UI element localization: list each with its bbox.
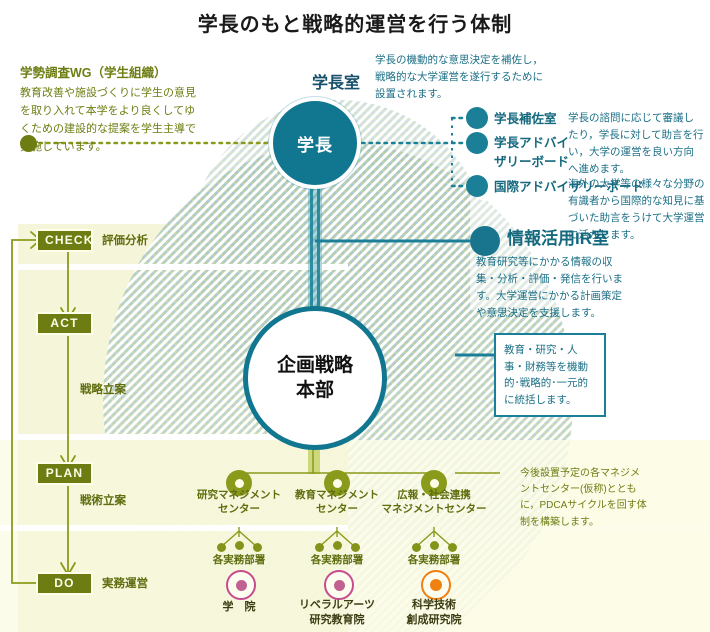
pdca-tag-check[interactable]: CHECK — [36, 229, 93, 252]
institute-label-2-line1: リベラルアーツ — [287, 598, 387, 613]
center-label-1: 研究マネジメント センター — [184, 488, 294, 516]
student-wg-dot — [20, 135, 37, 152]
president-office-description: 学長の機動的な意思決定を補佐し，戦略的な大学運営を遂行するために設置されます。 — [375, 52, 550, 103]
dept-dot-3b — [430, 541, 439, 550]
institute-label-1: 学 院 — [199, 600, 279, 615]
pdca-mid-label-2: 戦術立案 — [80, 492, 126, 508]
institute-label-2-line2: 研究教育院 — [287, 613, 387, 628]
center-label-1-line1: 研究マネジメント — [184, 488, 294, 502]
hq-circle[interactable]: 企画戦略 本部 — [243, 306, 387, 450]
pdca-tag-do[interactable]: DO — [36, 572, 93, 595]
dept-dot-1b — [235, 541, 244, 550]
institute-node-1[interactable] — [226, 570, 256, 600]
advisor-label-1: 学長補佐室 — [494, 110, 574, 129]
pdca-tag-act[interactable]: ACT — [36, 312, 93, 335]
diagram-canvas: 学長のもと戦略的運営を行う体制 学勢調査WG（学生組織） 教育改善や施設づくりに… — [0, 0, 710, 632]
student-wg-body: 教育改善や施設づくりに学生の意見を取り入れて本学をより良くしてゆくための建設的な… — [20, 85, 205, 156]
dept-label-2: 各実務部署 — [297, 553, 377, 567]
advisor-dot-3 — [466, 175, 488, 197]
center-label-3: 広報・社会連携 マネジメントセンター — [372, 488, 496, 516]
page-title: 学長のもと戦略的運営を行う体制 — [0, 8, 710, 37]
center-label-3-line2: マネジメントセンター — [372, 502, 496, 516]
dept-dot-2b — [333, 541, 342, 550]
institute-label-3-line2: 創成研究院 — [389, 613, 479, 628]
president-label: 学長 — [297, 131, 333, 156]
dept-dot-3a — [412, 543, 421, 552]
student-wg-heading: 学勢調査WG（学生組織） — [20, 64, 205, 82]
hq-callout: 教育・研究・人事・財務等を機動的･戦略的･一元的に統括します。 — [494, 333, 606, 417]
institute-label-2: リベラルアーツ 研究教育院 — [287, 598, 387, 628]
advisor-label-2: 学長アドバイザリーボード — [494, 134, 570, 172]
dept-dot-1c — [253, 543, 262, 552]
hq-line1: 企画戦略 — [277, 353, 353, 378]
pdca-mid-label-1: 戦略立案 — [80, 381, 126, 397]
pdca-label-check: 評価分析 — [102, 232, 148, 248]
ir-office-title: 情報活用IR室 — [507, 228, 609, 250]
pdca-label-do: 実務運営 — [102, 575, 148, 591]
president-circle[interactable]: 学長 — [269, 97, 361, 189]
pdca-tag-plan[interactable]: PLAN — [36, 462, 93, 485]
advisor-dot-1 — [466, 107, 488, 129]
dept-dot-2a — [315, 543, 324, 552]
institute-label-3-line1: 科学技術 — [389, 598, 479, 613]
center-label-3-line1: 広報・社会連携 — [372, 488, 496, 502]
president-office-label: 学長室 — [312, 72, 360, 96]
dept-dot-3c — [448, 543, 457, 552]
student-wg-note: 学勢調査WG（学生組織） 教育改善や施設づくりに学生の意見を取り入れて本学をより… — [20, 64, 205, 156]
dept-label-3: 各実務部署 — [394, 553, 474, 567]
institute-node-2[interactable] — [324, 570, 354, 600]
centers-note: 今後設置予定の各マネジメントセンター(仮称)とともに，PDCAサイクルを回す体制… — [520, 466, 648, 531]
dept-dot-2c — [351, 543, 360, 552]
center-label-1-line2: センター — [184, 502, 294, 516]
dept-label-1: 各実務部署 — [199, 553, 279, 567]
advisor-dot-2 — [466, 132, 488, 154]
institute-label-3: 科学技術 創成研究院 — [389, 598, 479, 628]
ir-office-dot — [470, 226, 500, 256]
institute-label-1-line1: 学 院 — [199, 600, 279, 615]
hq-line2: 本部 — [277, 378, 353, 403]
dept-dot-1a — [217, 543, 226, 552]
institute-node-3[interactable] — [421, 570, 451, 600]
ir-office-body: 教育研究等にかかる情報の収集・分析・評価・発信を行います。大学運営にかかる計画策… — [476, 254, 626, 322]
advisor-note-upper: 学長の諮問に応じて審議したり，学長に対して助言を行い，大学の運営を良い方向へ進め… — [568, 110, 704, 178]
